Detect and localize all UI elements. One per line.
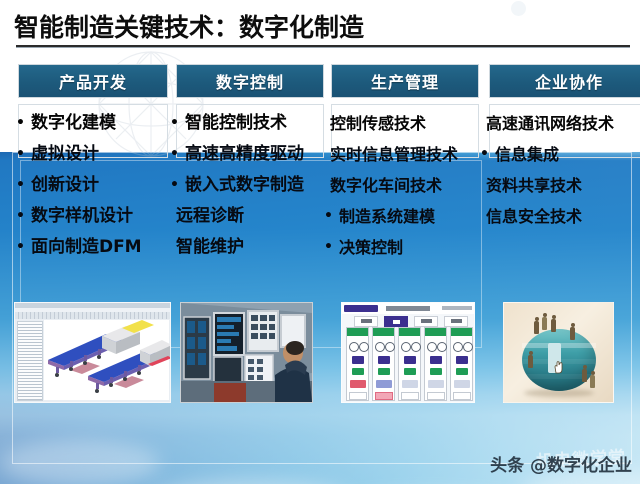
list-item-label: 信息安全技术	[486, 201, 582, 232]
list-item[interactable]: •决策控制	[324, 232, 514, 263]
list-item-label: 信息集成	[495, 139, 559, 170]
list-item[interactable]: •创新设计	[16, 170, 186, 201]
person-figure	[590, 375, 595, 388]
scada-company-badge	[344, 305, 378, 312]
scada-dashboard-screenshot[interactable]	[341, 302, 475, 403]
list-item-label: 创新设计	[31, 170, 99, 201]
title-divider-shadow	[16, 47, 630, 48]
conveyor-line-diagram	[44, 320, 171, 403]
bullet-icon: •	[480, 139, 489, 170]
person-figure	[528, 355, 533, 368]
list-item-label: 智能维护	[176, 232, 244, 263]
list-item-label: 数字样机设计	[31, 201, 133, 232]
slide-root: 智能制造关键技术：数字化制造 产品开发 数字控制 生产管理 企业协作 •数字化建…	[0, 0, 640, 484]
bullet-icon: •	[16, 232, 25, 263]
list-item-label: 数字化车间技术	[330, 170, 442, 201]
bullet-icon: •	[16, 139, 25, 170]
list-item-label: 决策控制	[339, 232, 403, 263]
bullet-icon: •	[16, 108, 25, 139]
list-item-label: 制造系统建模	[339, 201, 435, 232]
globe-collaboration-illustration[interactable]	[503, 302, 614, 403]
scada-unit-column[interactable]	[450, 327, 473, 401]
page-title: 智能制造关键技术：数字化制造	[14, 8, 364, 44]
column-header-label: 数字控制	[216, 69, 284, 93]
scada-timestamp	[442, 306, 472, 310]
bullet-icon: •	[324, 232, 333, 263]
person-figure	[570, 327, 575, 340]
control-room-illustration	[181, 303, 312, 402]
column-header-digital-control[interactable]: 数字控制	[176, 64, 324, 98]
list-item-label: 实时信息管理技术	[330, 139, 458, 170]
list-item-label: 智能控制技术	[185, 108, 287, 139]
scada-title	[386, 306, 430, 311]
column-header-label: 企业协作	[535, 69, 603, 93]
bullet-icon: •	[324, 201, 333, 232]
list-item-label: 控制传感技术	[330, 108, 426, 139]
column-list-product-development: •数字化建模 •虚拟设计 •创新设计 •数字样机设计 •面向制造DFM	[16, 108, 186, 263]
scada-kpi-card	[444, 316, 468, 327]
column-list-enterprise-collaboration: 高速通讯网络技术 •信息集成 资料共享技术 信息安全技术	[480, 108, 640, 232]
bullet-icon: •	[16, 201, 25, 232]
scada-unit-column[interactable]	[346, 327, 369, 401]
scada-kpi-card	[354, 316, 378, 327]
list-item[interactable]: 资料共享技术	[480, 170, 640, 201]
watermark-primary: 头条 @数字化企业	[490, 451, 632, 476]
person-figure	[582, 369, 587, 382]
scada-unit-column[interactable]	[372, 327, 395, 401]
bullet-icon: •	[16, 170, 25, 201]
person-figure	[534, 321, 539, 334]
list-item[interactable]: •数字样机设计	[16, 201, 186, 232]
list-item[interactable]: •智能控制技术	[170, 108, 350, 139]
control-room-photo[interactable]	[180, 302, 313, 403]
list-item[interactable]: 智能维护	[170, 232, 350, 263]
list-item[interactable]: •面向制造DFM	[16, 232, 186, 263]
list-item-label: 嵌入式数字制造	[185, 170, 304, 201]
list-item-label: 高速高精度驱动	[185, 139, 304, 170]
bullet-icon: •	[170, 108, 179, 139]
list-item-label: 高速通讯网络技术	[486, 108, 614, 139]
column-header-enterprise-collaboration[interactable]: 企业协作	[489, 64, 640, 98]
person-figure	[551, 319, 556, 332]
hand-cursor-icon	[554, 361, 564, 374]
list-item-label: 数字化建模	[31, 108, 116, 139]
list-item-label: 远程诊断	[176, 201, 244, 232]
column-header-production-management[interactable]: 生产管理	[331, 64, 479, 98]
column-header-label: 生产管理	[371, 69, 439, 93]
list-item[interactable]: •数字化建模	[16, 108, 186, 139]
person-figure	[542, 317, 547, 330]
list-item[interactable]: 高速通讯网络技术	[480, 108, 640, 139]
list-item[interactable]: •嵌入式数字制造	[170, 170, 350, 201]
column-list-digital-control: •智能控制技术 •高速高精度驱动 •嵌入式数字制造 远程诊断 智能维护	[170, 108, 350, 263]
column-headers: 产品开发 数字控制 生产管理 企业协作	[0, 64, 640, 98]
column-header-label: 产品开发	[59, 69, 127, 93]
list-item-label: 虚拟设计	[31, 139, 99, 170]
list-item[interactable]: •虚拟设计	[16, 139, 186, 170]
list-item[interactable]: •信息集成	[480, 139, 640, 170]
cad-simulation-screenshot[interactable]	[14, 302, 171, 403]
bullet-icon: •	[170, 139, 179, 170]
list-item[interactable]: •高速高精度驱动	[170, 139, 350, 170]
scada-unit-column[interactable]	[398, 327, 421, 401]
list-item-label: 资料共享技术	[486, 170, 582, 201]
watermark-primary-label: 头条 @数字化企业	[490, 451, 632, 476]
list-item[interactable]: 信息安全技术	[480, 201, 640, 232]
scada-kpi-card	[384, 316, 408, 327]
toutiao-logo-icon	[511, 1, 526, 16]
column-header-product-development[interactable]: 产品开发	[18, 64, 168, 98]
list-item-label: 面向制造DFM	[31, 232, 142, 263]
scada-kpi-card	[414, 316, 438, 327]
list-item[interactable]: 远程诊断	[170, 201, 350, 232]
bullet-icon: •	[170, 170, 179, 201]
scada-unit-column[interactable]	[424, 327, 447, 401]
